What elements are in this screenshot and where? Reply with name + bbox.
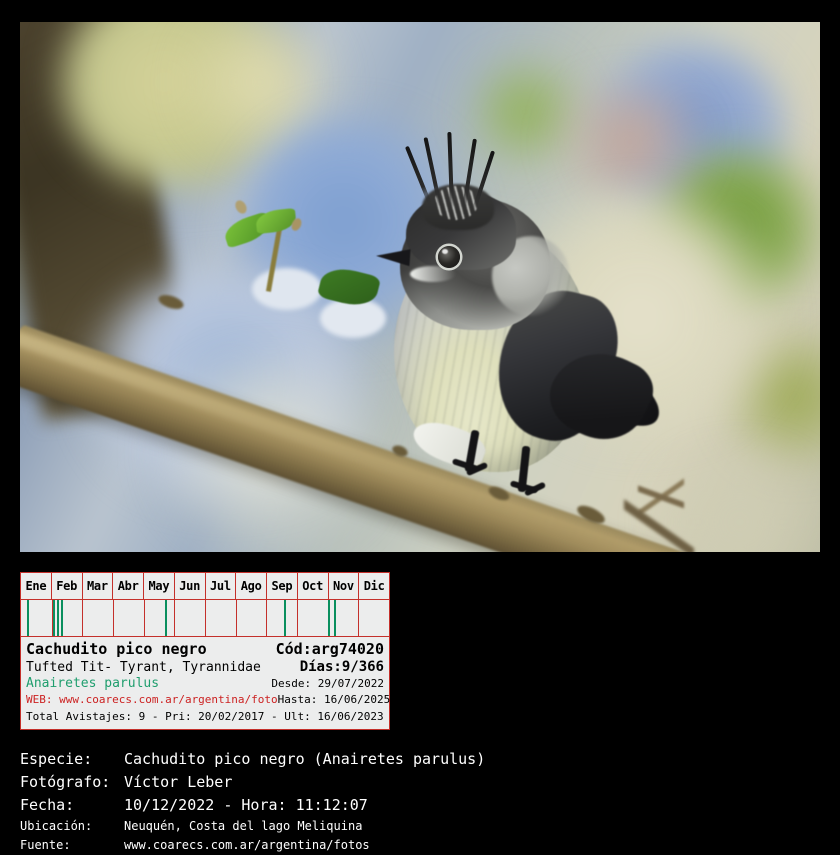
sighting-tick-7: [328, 600, 330, 636]
species-code-text: Cód:arg74020: [276, 640, 384, 659]
month-cell-abr: Abr: [113, 573, 144, 599]
total-sightings-text: Total Avistajes: 9 - Pri: 20/02/2017 - U…: [26, 708, 384, 725]
info-line-english: Tufted Tit- Tyrant, Tyrannidae Días:9/36…: [26, 659, 384, 676]
month-cell-mar: Mar: [83, 573, 114, 599]
sightings-calendar-panel: EneFebMarAbrMayJunJulAgoSepOctNovDic Cac…: [20, 572, 390, 730]
month-cell-feb: Feb: [52, 573, 83, 599]
web-url-text[interactable]: WEB: www.coarecs.com.ar/argentina/foto: [26, 692, 278, 708]
month-separator: [236, 600, 237, 636]
fotografo-label: Fotógrafo:: [20, 771, 124, 794]
month-cell-dic: Dic: [359, 573, 389, 599]
desde-date-text: Desde: 29/07/2022: [271, 676, 384, 692]
hasta-date-text: Hasta: 16/06/2025: [278, 692, 391, 708]
dias-count-text: Días:9/366: [300, 659, 384, 676]
tufted-tit-tyrant-bird: [372, 140, 672, 500]
month-separator: [144, 600, 145, 636]
month-separator: [174, 600, 175, 636]
month-cell-oct: Oct: [298, 573, 329, 599]
english-name-text: Tufted Tit- Tyrant, Tyrannidae: [26, 659, 261, 676]
month-separator: [82, 600, 83, 636]
ubicacion-value: Neuquén, Costa del lago Meliquina: [124, 817, 820, 836]
bird-malar-stripe: [410, 266, 456, 282]
info-line-common: Cachudito pico negro Cód:arg74020: [26, 640, 384, 659]
meta-row-especie: Especie: Cachudito pico negro (Anairetes…: [20, 748, 820, 771]
common-name-text: Cachudito pico negro: [26, 640, 207, 659]
meta-row-fecha: Fecha: 10/12/2022 - Hora: 11:12:07: [20, 794, 820, 817]
bird-photograph: [20, 22, 820, 552]
scientific-name-text: Anairetes parulus: [26, 676, 159, 692]
month-cell-ago: Ago: [236, 573, 267, 599]
bird-beak: [375, 247, 410, 266]
sighting-tick-4: [61, 600, 63, 636]
meta-row-fuente: Fuente: www.coarecs.com.ar/argentina/fot…: [20, 836, 820, 855]
meta-row-fotografo: Fotógrafo: Víctor Leber: [20, 771, 820, 794]
month-separator: [113, 600, 114, 636]
month-cell-ene: Ene: [21, 573, 52, 599]
month-cell-sep: Sep: [267, 573, 298, 599]
especie-label: Especie:: [20, 748, 124, 771]
sighting-tick-8: [334, 600, 336, 636]
dry-twig-cluster-2: [624, 492, 694, 552]
photo-metadata: Especie: Cachudito pico negro (Anairetes…: [20, 748, 820, 855]
month-separator: [205, 600, 206, 636]
fuente-label: Fuente:: [20, 836, 124, 855]
fecha-value: 10/12/2022 - Hora: 11:12:07: [124, 794, 820, 817]
bird-eye: [438, 246, 460, 268]
month-cell-may: May: [144, 573, 175, 599]
ubicacion-label: Ubicación:: [20, 817, 124, 836]
fuente-value[interactable]: www.coarecs.com.ar/argentina/fotos: [124, 836, 820, 855]
meta-row-ubicacion: Ubicación: Neuquén, Costa del lago Meliq…: [20, 817, 820, 836]
month-cell-nov: Nov: [329, 573, 360, 599]
month-separator: [358, 600, 359, 636]
blossom-blur-1: [252, 268, 322, 310]
sighting-tick-3: [57, 600, 59, 636]
especie-value: Cachudito pico negro (Anairetes parulus): [124, 748, 820, 771]
month-header-row: EneFebMarAbrMayJunJulAgoSepOctNovDic: [21, 573, 389, 600]
sighting-tick-1: [27, 600, 29, 636]
month-separator: [266, 600, 267, 636]
sighting-tick-5: [165, 600, 167, 636]
month-cell-jul: Jul: [206, 573, 237, 599]
month-cell-jun: Jun: [175, 573, 206, 599]
info-line-scientific: Anairetes parulus Desde: 29/07/2022: [26, 676, 384, 692]
bird-eye-glint: [442, 249, 448, 254]
bird-toe-2b: [524, 481, 546, 496]
sightings-tick-row: [21, 600, 389, 637]
sighting-tick-2: [53, 600, 55, 636]
fecha-label: Fecha:: [20, 794, 124, 817]
month-separator: [297, 600, 298, 636]
sighting-tick-6: [284, 600, 286, 636]
species-info-block: Cachudito pico negro Cód:arg74020 Tufted…: [21, 637, 389, 729]
info-line-web: WEB: www.coarecs.com.ar/argentina/foto H…: [26, 692, 384, 708]
fotografo-value: Víctor Leber: [124, 771, 820, 794]
